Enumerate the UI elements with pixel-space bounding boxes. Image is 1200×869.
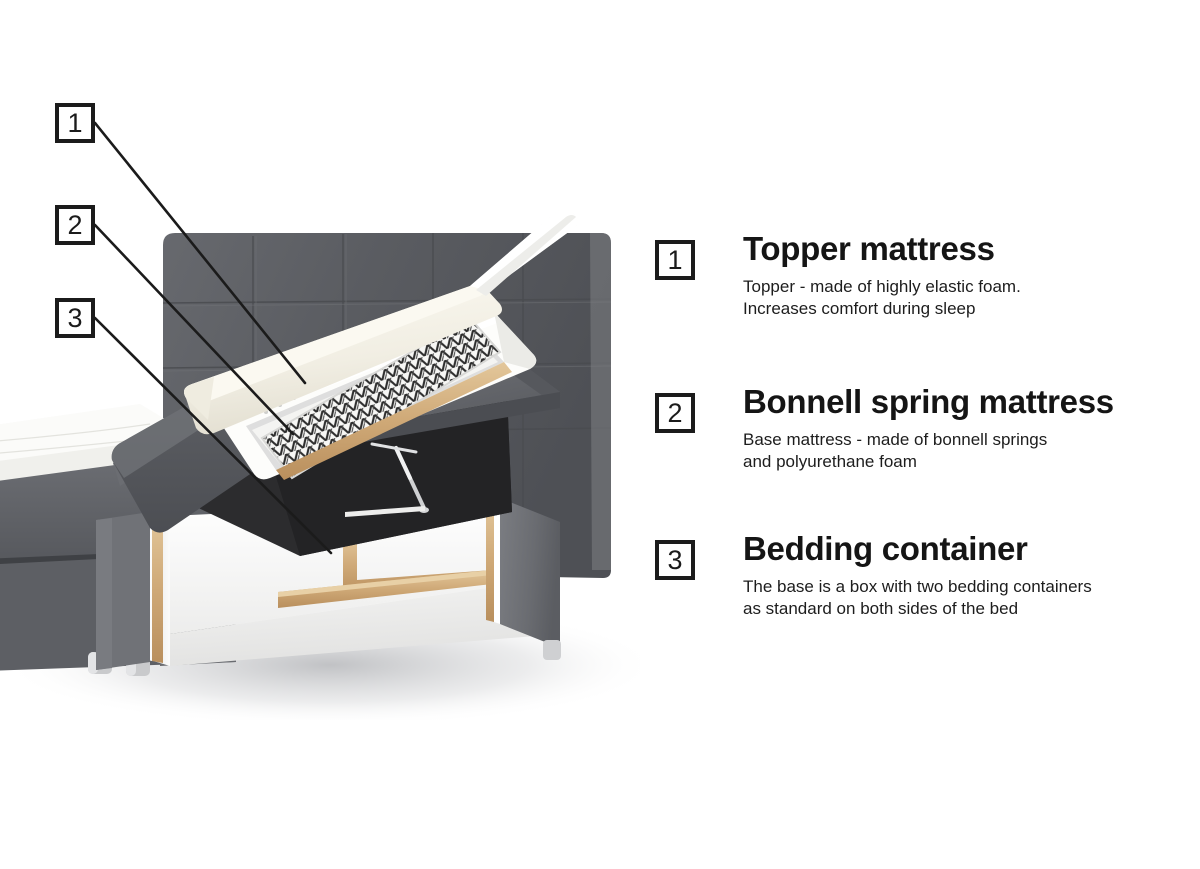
legend-body-3: Bedding container The base is a box with… xyxy=(743,532,1195,621)
legend-body-1: Topper mattress Topper - made of highly … xyxy=(743,232,1195,321)
callout-marker-1[interactable]: 1 xyxy=(55,103,95,143)
legend-number-badge-1: 1 xyxy=(655,240,695,280)
legend-title-3: Bedding container xyxy=(743,532,1195,567)
legend-description-2: Base mattress - made of bonnell springs … xyxy=(743,429,1195,474)
legend-description-3: The base is a box with two bedding conta… xyxy=(743,576,1195,621)
callout-marker-2-label: 2 xyxy=(67,212,82,239)
legend-number-badge-2: 2 xyxy=(655,393,695,433)
callout-marker-3[interactable]: 3 xyxy=(55,298,95,338)
legend-title-2: Bonnell spring mattress xyxy=(743,385,1195,420)
legend-title-1: Topper mattress xyxy=(743,232,1195,267)
callout-marker-2[interactable]: 2 xyxy=(55,205,95,245)
callout-marker-3-label: 3 xyxy=(67,305,82,332)
legend-number-3: 3 xyxy=(667,547,682,574)
legend-number-1: 1 xyxy=(667,247,682,274)
callout-marker-1-label: 1 xyxy=(67,110,82,137)
product-illustration xyxy=(0,0,640,720)
infographic-canvas: 1 2 3 1 Topper mattress Topper - made of… xyxy=(0,0,1200,869)
legend-body-2: Bonnell spring mattress Base mattress - … xyxy=(743,385,1195,474)
legend-number-2: 2 xyxy=(667,400,682,427)
legend-description-1: Topper - made of highly elastic foam. In… xyxy=(743,276,1195,321)
legend-number-badge-3: 3 xyxy=(655,540,695,580)
